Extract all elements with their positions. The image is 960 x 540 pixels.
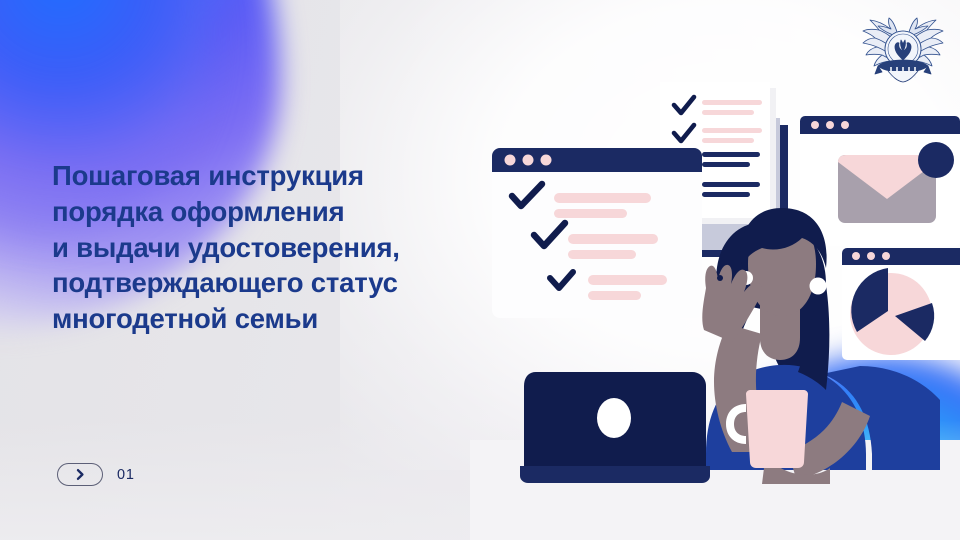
page-number: 01	[117, 467, 135, 483]
earring-right	[810, 278, 827, 295]
window-dot	[811, 121, 819, 129]
browser-window-chart	[842, 248, 960, 360]
slide-root: Пошаговая инструкция порядка оформления …	[0, 0, 960, 540]
notification-badge-icon	[918, 142, 954, 178]
illustration-woman-with-laptop	[470, 0, 960, 540]
window-dot	[505, 155, 516, 166]
pager: 01	[57, 463, 135, 486]
browser-window-mail	[800, 116, 960, 246]
window-dot	[523, 155, 534, 166]
next-slide-button[interactable]	[57, 463, 103, 486]
window-dot	[826, 121, 834, 129]
browser-window-checklist	[492, 148, 702, 318]
laptop-logo-icon	[597, 398, 631, 438]
laptop	[520, 372, 710, 483]
ring-icon	[717, 275, 723, 281]
window-dot	[841, 121, 849, 129]
window-dot	[541, 155, 552, 166]
window-dot	[852, 252, 860, 260]
window-dot	[867, 252, 875, 260]
window-dot	[882, 252, 890, 260]
page-title: Пошаговая инструкция порядка оформления …	[52, 158, 522, 337]
chevron-right-icon	[74, 468, 87, 481]
